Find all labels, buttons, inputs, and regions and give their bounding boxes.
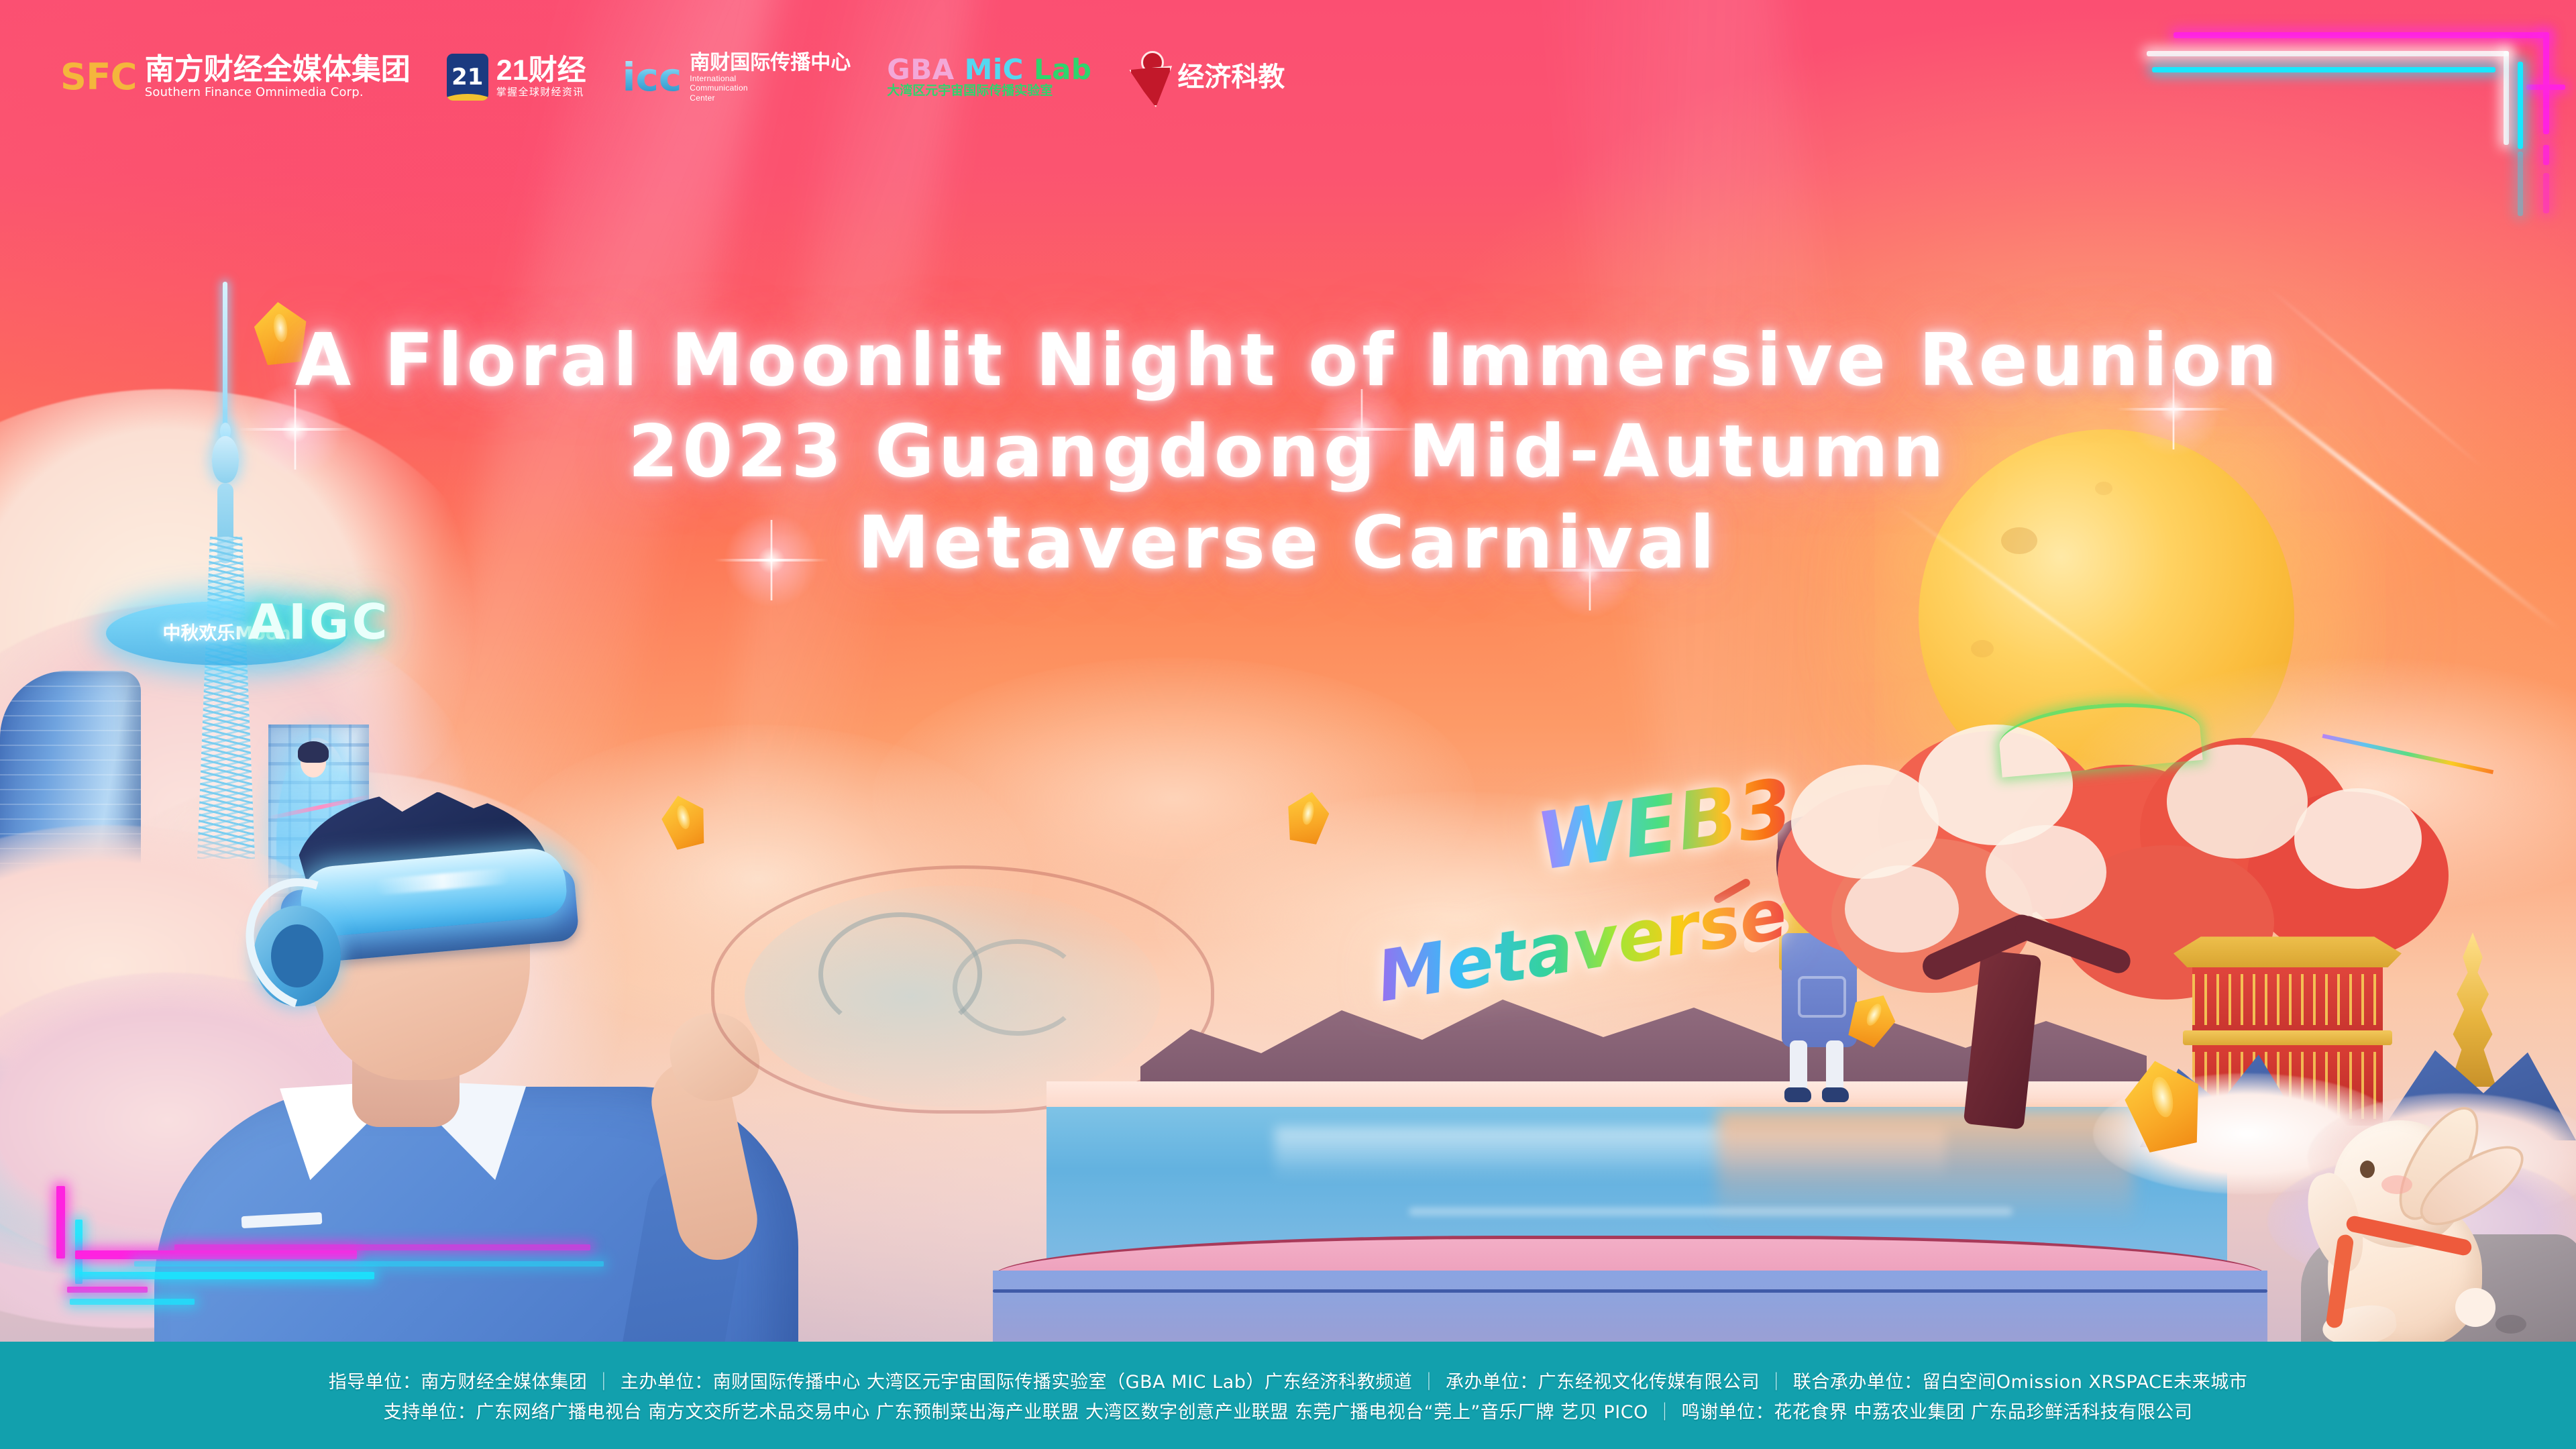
- sponsor-r2-label-1: 鸣谢单位：: [1682, 1397, 1774, 1424]
- sponsor-r1-label-2: 承办单位：: [1446, 1367, 1538, 1393]
- sponsor-r1-label-1: 主办单位：: [621, 1367, 713, 1393]
- water-band-lavender: [993, 1271, 2267, 1344]
- sfc-english-name: Southern Finance Omnimedia Corp.: [145, 85, 411, 100]
- temple-cornice: [2183, 1030, 2392, 1045]
- poster-canvas: 中秋欢乐Moon AIGC: [0, 0, 2576, 1449]
- gba-wordmark: GBA MiC Lab: [887, 56, 1091, 84]
- rabbit-tail: [2455, 1288, 2495, 1327]
- logo-21cj[interactable]: 21 21财经 掌握全球财经资讯: [447, 40, 586, 114]
- title-sparkle-5: [1536, 517, 1644, 624]
- sponsor-r1-label-3: 联合承办单位：: [1793, 1367, 1923, 1393]
- sponsor-r1-label-0: 指导单位：: [329, 1367, 421, 1393]
- logo-sfc[interactable]: SFC 南方财经全媒体集团 Southern Finance Omnimedia…: [60, 40, 411, 114]
- girl-leg-right: [1826, 1040, 1843, 1093]
- neon-line-white-v: [2504, 51, 2509, 145]
- moon-streak-3: [2266, 285, 2483, 468]
- sponsor-r1-value-2: 广东经视文化传媒有限公司: [1538, 1367, 1760, 1393]
- title-sparkle-4: [718, 506, 825, 614]
- sponsor-r1-sep-0: |: [600, 1370, 607, 1391]
- sponsor-r1-sep-2: |: [1773, 1370, 1780, 1391]
- icc-en-line2: Communication: [690, 83, 851, 93]
- sponsor-r1-value-0: 南方财经全媒体集团: [421, 1367, 587, 1393]
- neon-line-cyan-fade: [2518, 152, 2523, 216]
- rabbit-eye: [2360, 1161, 2375, 1178]
- girl-leg-left: [1790, 1040, 1807, 1093]
- neon-line-magenta-v: [2543, 32, 2549, 134]
- sponsor-credits-bar: 指导单位： 南方财经全媒体集团 | 主办单位： 南财国际传播中心 大湾区元宇宙国…: [0, 1342, 2576, 1449]
- sponsor-row-1: 指导单位： 南方财经全媒体集团 | 主办单位： 南财国际传播中心 大湾区元宇宙国…: [329, 1367, 2248, 1393]
- sponsor-r2-label-0: 支持单位：: [384, 1397, 476, 1424]
- 21cj-tagline: 掌握全球财经资讯: [496, 87, 586, 99]
- gba-part-gba: GBA: [887, 53, 954, 86]
- logo-icc[interactable]: icc 南财国际传播中心 International Communication…: [623, 40, 851, 114]
- rabbit-blush: [2381, 1175, 2412, 1194]
- icc-en-line3: Center: [690, 93, 851, 103]
- icc-wordmark: icc: [623, 58, 682, 97]
- glitch-chest-magenta: [174, 1244, 590, 1250]
- logo-jjkj[interactable]: 经济科教: [1128, 40, 1285, 114]
- gba-sub-label: 大湾区元宇宙国际传播实验室: [887, 84, 1091, 99]
- glitch-chest-cyan: [134, 1261, 604, 1267]
- cloud-center-3: [1154, 792, 1758, 1046]
- auspicious-cloud-outline: [711, 865, 1214, 1114]
- sponsor-r1-value-3: 留白空间Omission XRSPACE未来城市: [1923, 1367, 2248, 1393]
- gba-part-mic: MiC: [965, 53, 1024, 86]
- neon-line-cyan-h: [2152, 67, 2495, 72]
- neon-line-white-h: [2147, 51, 2509, 56]
- neon-line-magenta-tick: [2526, 85, 2565, 90]
- neon-line-magenta-dash-2: [2543, 173, 2549, 213]
- sponsor-r2-value-0: 广东网络广播电视台 南方文交所艺术品交易中心 广东预制菜出海产业联盟 大湾区数字…: [476, 1397, 1648, 1424]
- sponsor-row-2: 支持单位： 广东网络广播电视台 南方文交所艺术品交易中心 广东预制菜出海产业联盟…: [384, 1397, 2193, 1424]
- sponsor-r2-sep-0: |: [1662, 1400, 1668, 1421]
- girl-shoe-right: [1822, 1087, 1849, 1102]
- girl-shoe-left: [1784, 1087, 1811, 1102]
- 21-badge: 21: [447, 54, 488, 101]
- title-line-1: A Floral Moonlit Night of Immersive Reun…: [0, 315, 2576, 407]
- title-sparkle-2: [1308, 376, 1415, 483]
- neon-line-magenta-h: [2173, 32, 2549, 38]
- neon-line-magenta-dash-1: [2543, 145, 2549, 165]
- 21-badge-arc: [447, 94, 488, 101]
- neon-line-cyan-v: [2518, 62, 2523, 149]
- logo-gba-mic-lab[interactable]: GBA MiC Lab 大湾区元宇宙国际传播实验室: [887, 40, 1091, 114]
- 21-badge-number: 21: [451, 64, 483, 91]
- sfc-wordmark: SFC: [60, 59, 137, 95]
- temple-roof: [2173, 932, 2402, 967]
- water-band-stroke: [993, 1289, 2267, 1293]
- icc-en-line1: International: [690, 74, 851, 83]
- sponsor-r1-value-1: 南财国际传播中心 大湾区元宇宙国际传播实验室（GBA MIC Lab）广东经济科…: [713, 1367, 1413, 1393]
- neon-frame-top-right: [2133, 0, 2576, 241]
- jjkj-figure-icon: [1128, 51, 1169, 103]
- sfc-chinese-name: 南方财经全媒体集团: [145, 54, 411, 85]
- icc-chinese-name: 南财国际传播中心: [690, 52, 851, 74]
- sponsor-r1-sep-1: |: [1426, 1370, 1432, 1391]
- temple-lattice-upper: [2192, 974, 2383, 1025]
- gba-part-lab: Lab: [1034, 53, 1091, 86]
- moon-rabbit: [2288, 1093, 2556, 1348]
- 21cj-chinese-name: 21财经: [496, 56, 586, 86]
- jjkj-chinese-name: 经济科教: [1177, 63, 1285, 91]
- sponsor-r2-value-1: 花花食界 中荔农业集团 广东品珍鲜活科技有限公司: [1774, 1397, 2192, 1424]
- lake-ripple-1: [1409, 1207, 2012, 1216]
- partner-logo-bar: SFC 南方财经全媒体集团 Southern Finance Omnimedia…: [60, 40, 1285, 114]
- aigc-sign: AIGC: [248, 594, 390, 650]
